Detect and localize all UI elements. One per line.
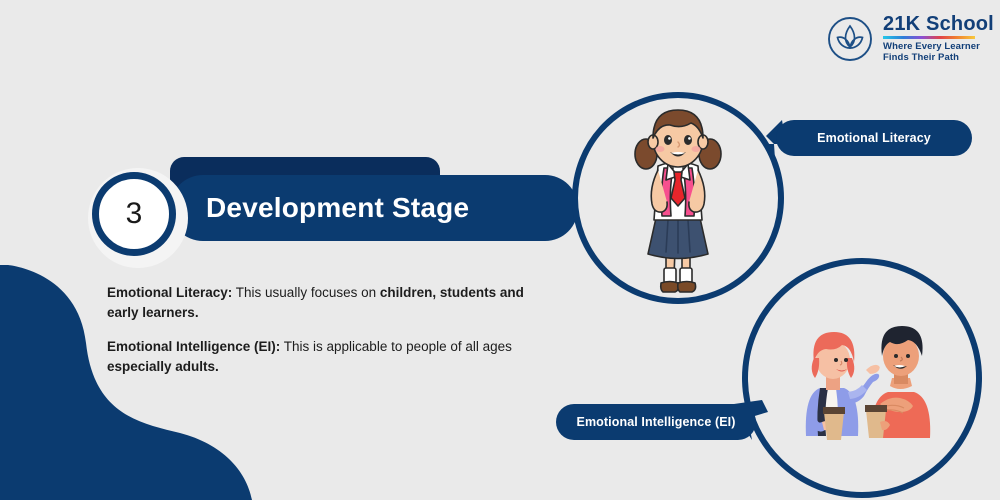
- paragraph-emotional-literacy: Emotional Literacy: This usually focuses…: [107, 283, 527, 322]
- logo-text-block: 21K School Where Every Learner Finds The…: [883, 14, 994, 64]
- lotus-circle-logo-icon: [826, 15, 874, 63]
- section-header-badge: Development Stage 3: [88, 155, 488, 255]
- logo-name: 21K School: [883, 14, 994, 35]
- schoolgirl-illustration: [622, 100, 734, 300]
- paragraph-0-lead: Emotional Literacy:: [107, 285, 232, 300]
- body-copy: Emotional Literacy: This usually focuses…: [107, 283, 527, 391]
- logo-tagline: Where Every Learner Finds Their Path: [883, 41, 994, 64]
- logo-tagline-line2: Finds Their Path: [883, 52, 959, 63]
- brand-logo: 21K School Where Every Learner Finds The…: [826, 14, 994, 64]
- section-number: 3: [92, 172, 176, 256]
- paragraph-0-text: This usually focuses on: [232, 285, 380, 300]
- paragraph-1-emphasis: especially adults.: [107, 359, 219, 374]
- logo-tagline-line1: Where Every Learner: [883, 41, 980, 52]
- logo-gradient-rule: [883, 36, 975, 39]
- callout-emotional-intelligence[interactable]: Emotional Intelligence (EI): [556, 404, 756, 440]
- paragraph-1-text: This is applicable to people of all ages: [280, 339, 512, 354]
- page-title: Development Stage: [206, 175, 566, 241]
- paragraph-1-lead: Emotional Intelligence (EI):: [107, 339, 280, 354]
- two-adults-conversation-illustration: [762, 300, 962, 440]
- slide-canvas: 21K School Where Every Learner Finds The…: [0, 0, 1000, 500]
- paragraph-emotional-intelligence: Emotional Intelligence (EI): This is app…: [107, 337, 527, 376]
- callout-emotional-literacy[interactable]: Emotional Literacy: [776, 120, 972, 156]
